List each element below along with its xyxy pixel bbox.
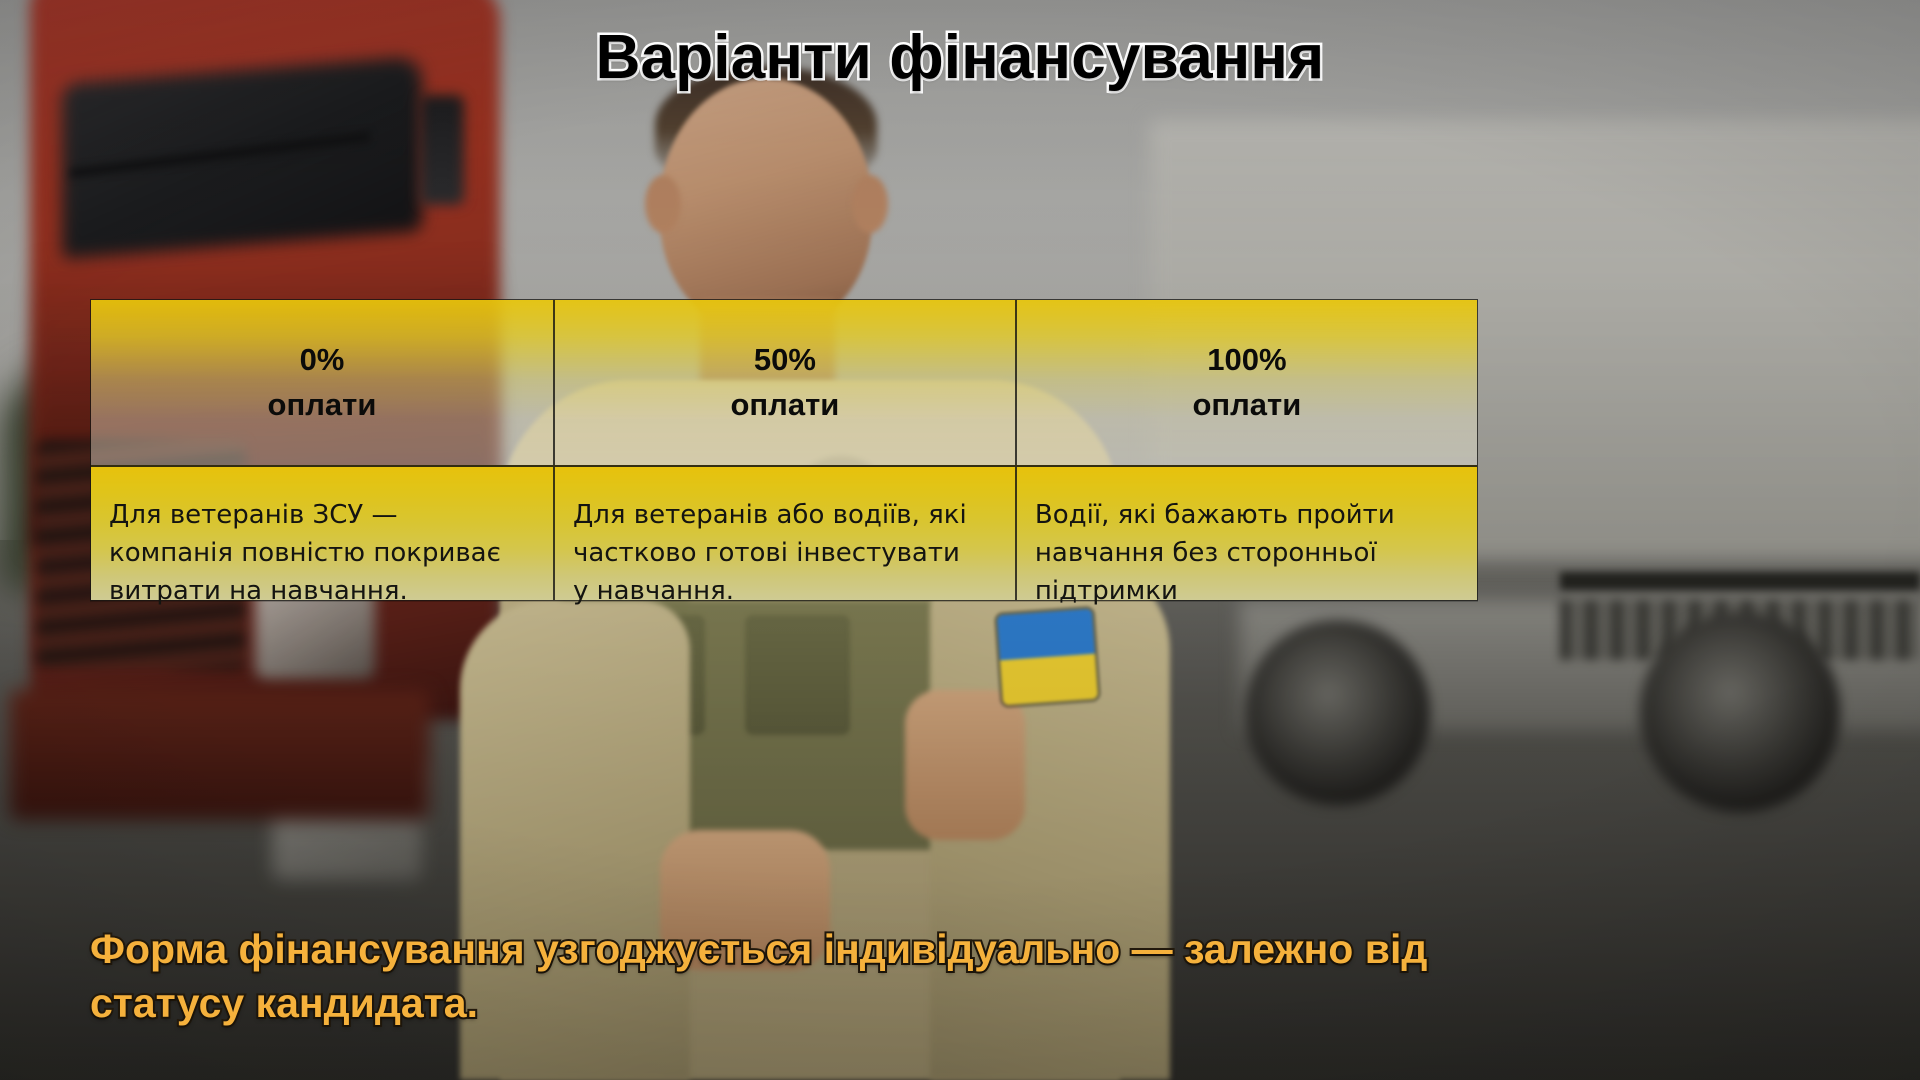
- table-header-cell-1: 50% оплати: [553, 300, 1015, 465]
- percent-value: 50%: [731, 338, 840, 382]
- percent-label: оплати: [268, 383, 377, 427]
- caption-line-1: Форма фінансування узгоджується індивіду…: [90, 922, 1590, 976]
- percent-label: оплати: [1192, 383, 1301, 427]
- caption-line-2: статусу кандидата.: [90, 976, 1590, 1030]
- table-header-cell-0: 0% оплати: [91, 300, 553, 465]
- financing-options-table: 0% оплати 50% оплати 100% оплати Для вет…: [90, 299, 1478, 601]
- option-description: Водії, які бажають пройти навчання без с…: [1035, 497, 1443, 611]
- percent-value: 0%: [268, 338, 377, 382]
- table-body-row: Для ветеранів ЗСУ — компанія повністю по…: [91, 467, 1477, 600]
- table-body-cell-0: Для ветеранів ЗСУ — компанія повністю по…: [91, 467, 553, 600]
- slide-caption: Форма фінансування узгоджується індивіду…: [90, 922, 1590, 1030]
- percent-value: 100%: [1192, 338, 1301, 382]
- slide-title: Варіанти фінансування: [0, 22, 1920, 93]
- table-body-cell-2: Водії, які бажають пройти навчання без с…: [1015, 467, 1477, 600]
- table-header-cell-2: 100% оплати: [1015, 300, 1477, 465]
- table-body-cell-1: Для ветеранів або водіїв, які частково г…: [553, 467, 1015, 600]
- option-description: Для ветеранів або водіїв, які частково г…: [573, 497, 981, 611]
- option-description: Для ветеранів ЗСУ — компанія повністю по…: [109, 497, 519, 611]
- table-header-row: 0% оплати 50% оплати 100% оплати: [91, 300, 1477, 467]
- percent-label: оплати: [731, 383, 840, 427]
